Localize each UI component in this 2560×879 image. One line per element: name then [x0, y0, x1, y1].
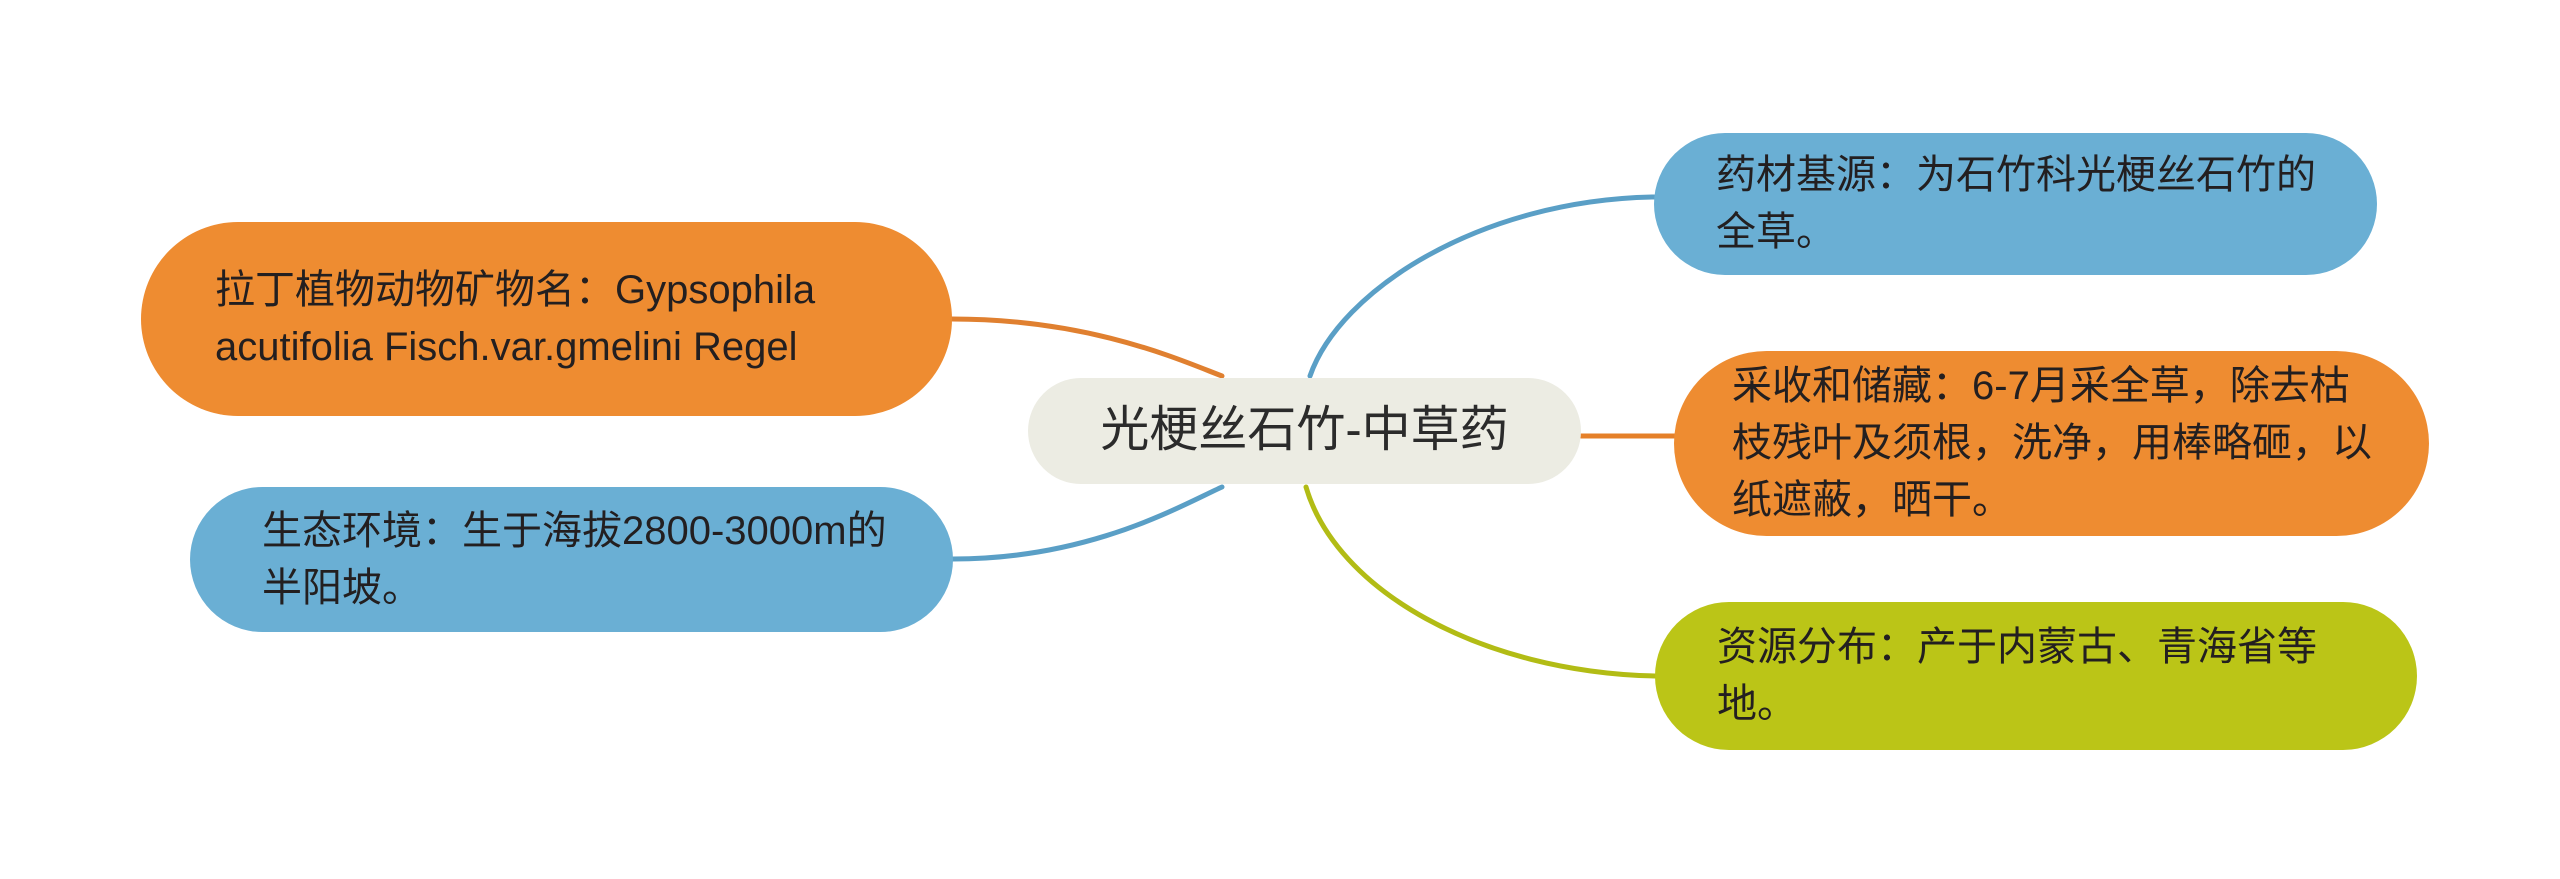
- branch-node-source[interactable]: 药材基源：为石竹科光梗丝石竹的全草。: [1654, 133, 2377, 275]
- branch-node-distribution[interactable]: 资源分布：产于内蒙古、青海省等地。: [1655, 602, 2417, 750]
- center-node-label: 光梗丝石竹-中草药: [1028, 396, 1581, 466]
- branch-node-ecology[interactable]: 生态环境：生于海拔2800-3000m的半阳坡。: [190, 487, 953, 632]
- branch-node-latin-name[interactable]: 拉丁植物动物矿物名：Gypsophila acutifolia Fisch.va…: [141, 222, 952, 416]
- center-node[interactable]: 光梗丝石竹-中草药: [1028, 378, 1581, 484]
- connector-distribution: [1306, 487, 1655, 676]
- connector-source: [1310, 197, 1654, 376]
- branch-label-ecology: 生态环境：生于海拔2800-3000m的半阳坡。: [190, 503, 953, 617]
- branch-label-distribution: 资源分布：产于内蒙古、青海省等地。: [1655, 619, 2417, 733]
- connector-latin-name: [952, 319, 1222, 376]
- branch-label-source: 药材基源：为石竹科光梗丝石竹的全草。: [1654, 147, 2377, 261]
- branch-label-latin-name: 拉丁植物动物矿物名：Gypsophila acutifolia Fisch.va…: [141, 262, 952, 376]
- connector-ecology: [953, 487, 1222, 559]
- branch-node-harvest[interactable]: 采收和储藏：6-7月采全草，除去枯枝残叶及须根，洗净，用棒略砸，以纸遮蔽，晒干。: [1674, 351, 2429, 536]
- mind-map-canvas: 光梗丝石竹-中草药 拉丁植物动物矿物名：Gypsophila acutifoli…: [0, 0, 2560, 879]
- branch-label-harvest: 采收和储藏：6-7月采全草，除去枯枝残叶及须根，洗净，用棒略砸，以纸遮蔽，晒干。: [1674, 358, 2429, 528]
